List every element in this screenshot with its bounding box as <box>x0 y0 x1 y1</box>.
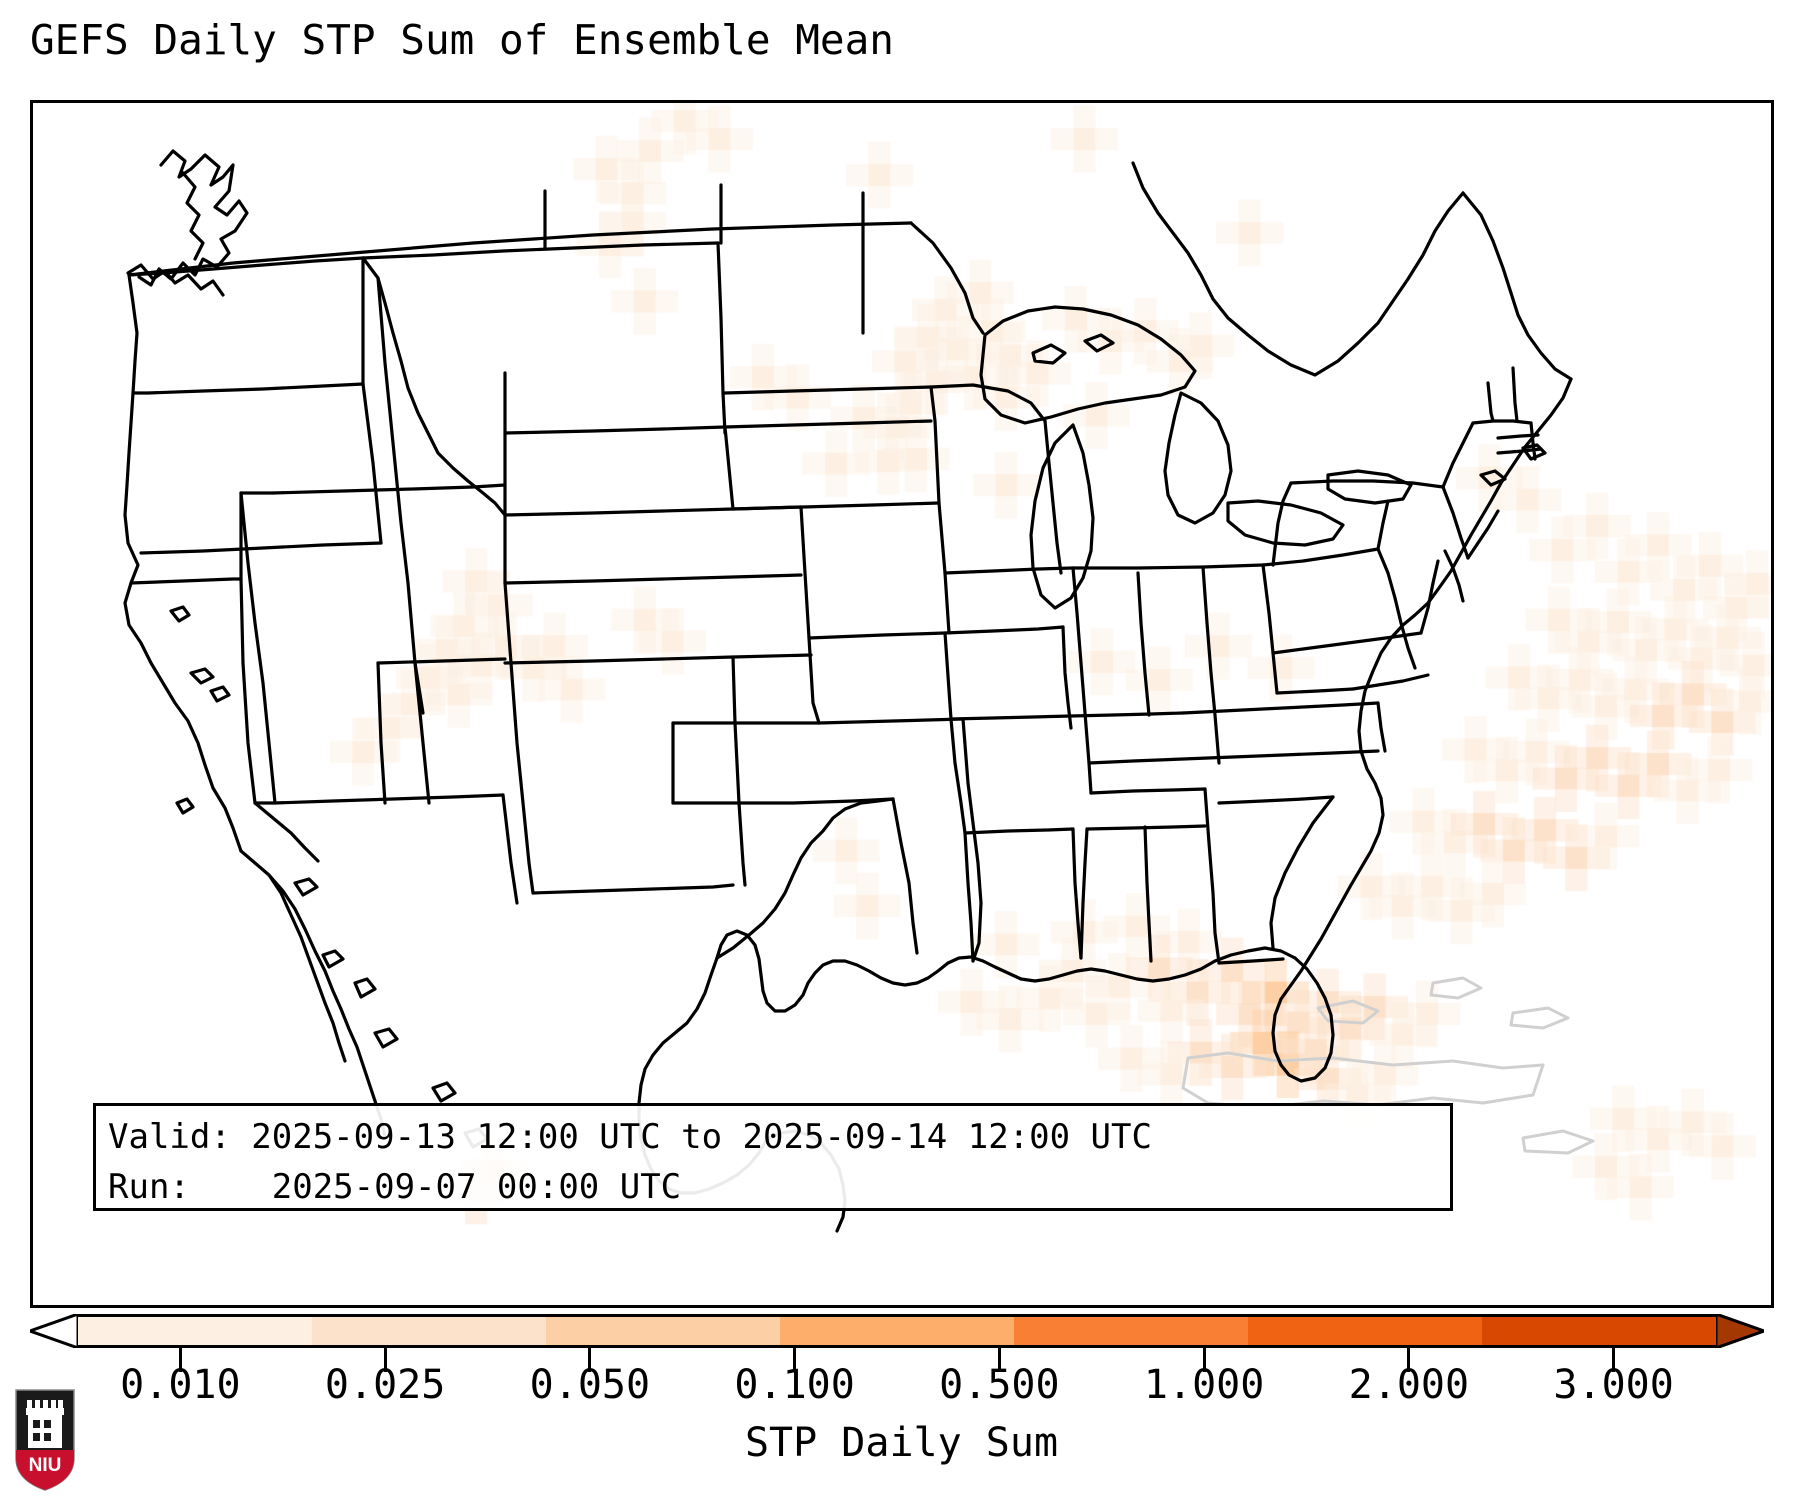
niu-logo: NIU <box>14 1388 76 1492</box>
colorbar-label-5: 1.000 <box>1144 1362 1264 1408</box>
colorbar-label-0: 0.010 <box>120 1362 240 1408</box>
colorbar-label-4: 0.500 <box>939 1362 1059 1408</box>
niu-logo-text: NIU <box>29 1455 62 1476</box>
colorbar-segment-1 <box>312 1317 546 1345</box>
colorbar-label-7: 3.000 <box>1553 1362 1673 1408</box>
colorbar-segment-5 <box>1248 1317 1482 1345</box>
valid-time-line: Valid: 2025-09-13 12:00 UTC to 2025-09-1… <box>108 1112 1438 1162</box>
info-box: Valid: 2025-09-13 12:00 UTC to 2025-09-1… <box>93 1103 1453 1211</box>
colorbar-segment-6 <box>1482 1317 1716 1345</box>
colorbar-label-6: 2.000 <box>1349 1362 1469 1408</box>
colorbar-label-3: 0.100 <box>734 1362 854 1408</box>
colorbar-under-arrow <box>30 1314 78 1348</box>
colorbar-segment-4 <box>1014 1317 1248 1345</box>
map-frame: Valid: 2025-09-13 12:00 UTC to 2025-09-1… <box>30 100 1774 1308</box>
colorbar-over-arrow <box>1716 1314 1764 1348</box>
page-title: GEFS Daily STP Sum of Ensemble Mean <box>30 16 894 64</box>
colorbar-axis-label: STP Daily Sum <box>0 1420 1803 1466</box>
colorbar-label-2: 0.050 <box>530 1362 650 1408</box>
colorbar-segment-2 <box>546 1317 780 1345</box>
colorbar-segment-3 <box>780 1317 1014 1345</box>
colorbar-tick-labels: 0.0100.0250.0500.1000.5001.0002.0003.000 <box>0 1362 1803 1414</box>
colorbar[interactable] <box>30 1310 1774 1354</box>
run-time-line: Run: 2025-09-07 00:00 UTC <box>108 1162 1438 1212</box>
colorbar-segment-0 <box>78 1317 312 1345</box>
colorbar-label-1: 0.025 <box>325 1362 445 1408</box>
colorbar-segments <box>78 1314 1716 1348</box>
